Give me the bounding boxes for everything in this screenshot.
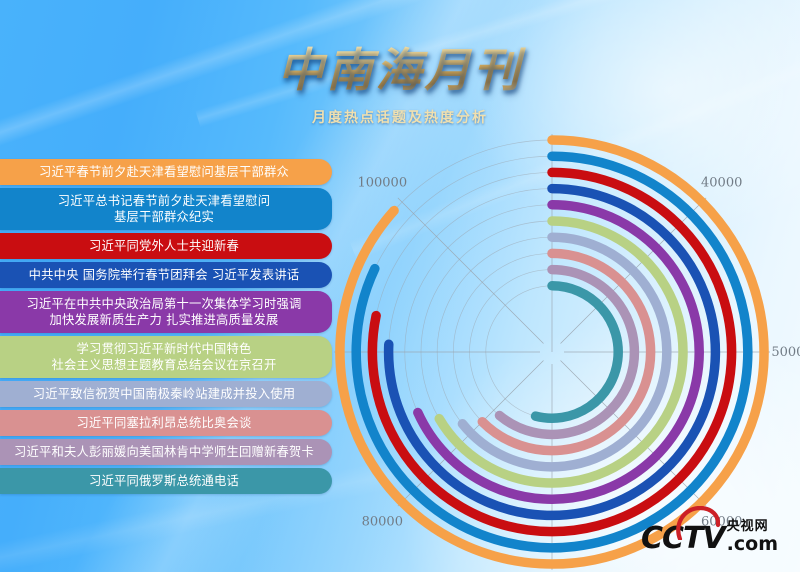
topic-legend-list: 习近平春节前夕赴天津看望慰问基层干部群众习近平总书记春节前夕赴天津看望慰问 基层… <box>0 159 332 497</box>
radial-bar-chart: 400005000060000700008000090000100000 <box>332 120 800 572</box>
chart-guide-ring <box>376 172 552 315</box>
topic-item-label: 习近平致信祝贺中国南极秦岭站建成并投入使用 <box>33 387 295 401</box>
topic-item-label: 习近平在中共中央政治局第十一次集体学习时强调 加快发展新质生产力 扎实推进高质量… <box>27 297 302 327</box>
topic-item[interactable]: 中共中央 国务院举行春节团拜会 习近平发表讲话 <box>0 262 332 288</box>
topic-item[interactable]: 习近平同俄罗斯总统通电话 <box>0 468 332 494</box>
infographic-canvas: 中南海月刊 月度热点话题及热度分析 习近平春节前夕赴天津看望慰问基层干部群众习近… <box>0 0 800 572</box>
page-title: 中南海月刊 <box>0 46 800 94</box>
topic-item-label: 习近平和夫人彭丽媛向美国林肯中学师生回赠新春贺卡 <box>14 445 314 459</box>
topic-item[interactable]: 学习贯彻习近平新时代中国特色 社会主义思想主题教育总结会议在京召开 <box>0 336 332 378</box>
topic-item[interactable]: 习近平同塞拉利昂总统比奥会谈 <box>0 410 332 436</box>
cctv-domain: .com <box>727 535 778 554</box>
topic-item-label: 学习贯彻习近平新时代中国特色 社会主义思想主题教育总结会议在京召开 <box>52 342 277 372</box>
topic-item-label: 习近平春节前夕赴天津看望慰问基层干部群众 <box>39 165 289 179</box>
topic-item[interactable]: 习近平总书记春节前夕赴天津看望慰问 基层干部群众纪实 <box>0 188 332 230</box>
chart-tick-label: 40000 <box>701 175 742 190</box>
chart-guide-ring <box>486 286 552 416</box>
chart-guide-ring <box>375 156 552 268</box>
cctv-chinese-name: 央视网 <box>727 520 778 534</box>
chart-guide-ring <box>389 189 552 345</box>
topic-item-label: 习近平同党外人士共迎新春 <box>89 239 239 253</box>
chart-tick-label: 50000 <box>771 345 800 360</box>
page-subtitle: 月度热点话题及热度分析 <box>0 107 800 127</box>
topic-item[interactable]: 习近平同党外人士共迎新春 <box>0 233 332 259</box>
cctv-logo: CCTV 央视网 .com <box>641 520 778 554</box>
chart-guide-ring <box>437 237 552 424</box>
topic-item[interactable]: 习近平致信祝贺中国南极秦岭站建成并投入使用 <box>0 381 332 407</box>
chart-guide-ring <box>405 205 552 413</box>
topic-item-label: 习近平同塞拉利昂总统比奥会谈 <box>77 416 252 430</box>
topic-item[interactable]: 习近平春节前夕赴天津看望慰问基层干部群众 <box>0 159 332 185</box>
cctv-swoosh-icon <box>674 506 720 540</box>
chart-tick-label: 100000 <box>357 175 407 190</box>
chart-guide-ring <box>394 140 552 211</box>
chart-guide-ring <box>421 221 552 419</box>
chart-tick-label: 80000 <box>362 515 403 530</box>
topic-item[interactable]: 习近平和夫人彭丽媛向美国林肯中学师生回赠新春贺卡 <box>0 439 332 465</box>
header: 中南海月刊 月度热点话题及热度分析 <box>0 46 800 127</box>
topic-item-label: 中共中央 国务院举行春节团拜会 习近平发表讲话 <box>29 268 300 282</box>
radial-chart-svg: 400005000060000700008000090000100000 <box>332 120 800 572</box>
topic-item-label: 习近平总书记春节前夕赴天津看望慰问 基层干部群众纪实 <box>58 194 270 224</box>
topic-item-label: 习近平同俄罗斯总统通电话 <box>89 474 239 488</box>
topic-item[interactable]: 习近平在中共中央政治局第十一次集体学习时强调 加快发展新质生产力 扎实推进高质量… <box>0 291 332 333</box>
chart-tick-label: 90000 <box>332 345 333 360</box>
